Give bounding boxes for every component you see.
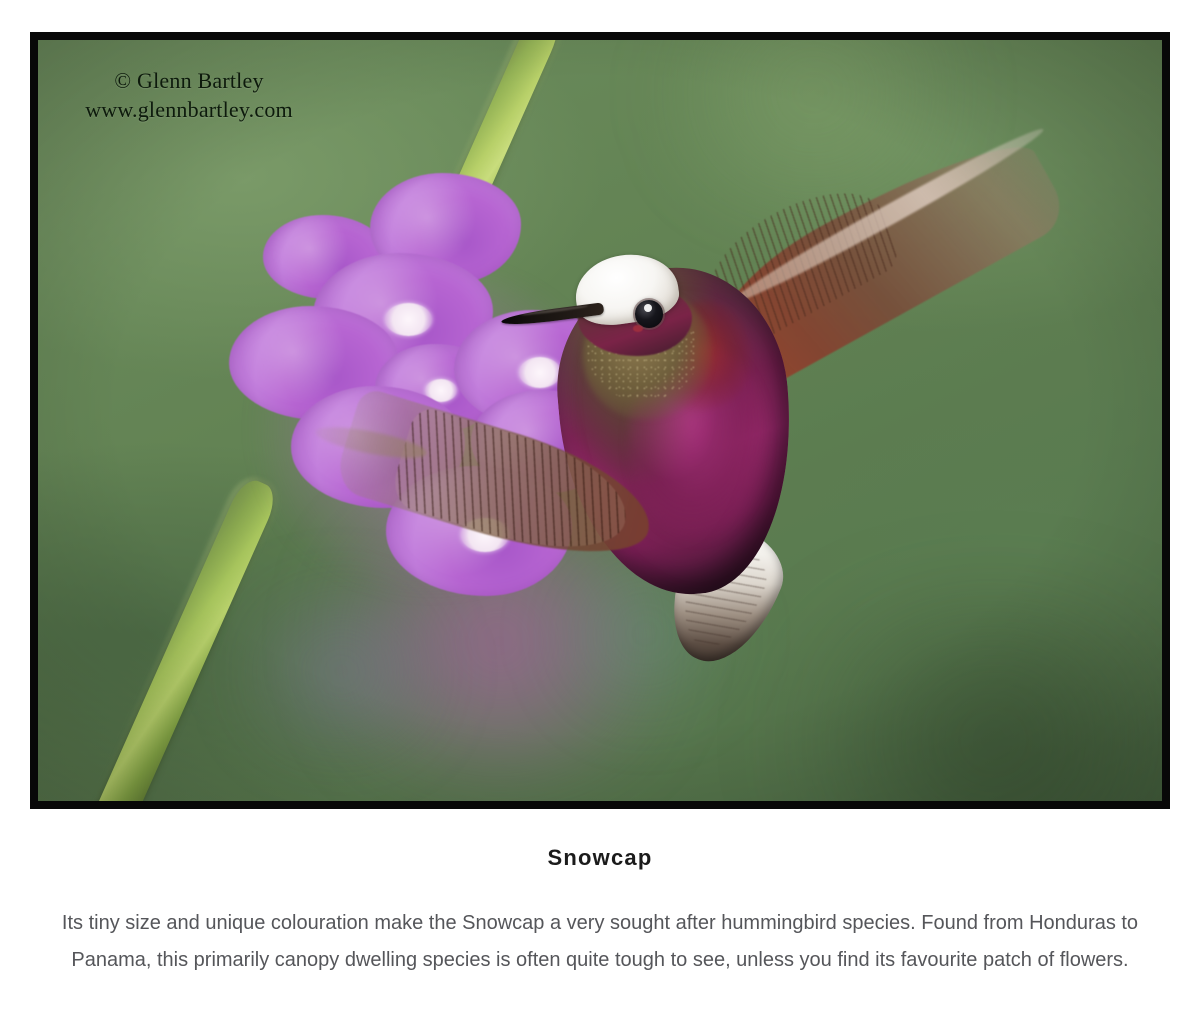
- species-description: Its tiny size and unique colouration mak…: [32, 905, 1168, 979]
- photo-frame: © Glenn Bartley www.glennbartley.com: [30, 32, 1170, 809]
- watermark-website-line: www.glennbartley.com: [85, 96, 293, 124]
- page-root: © Glenn Bartley www.glennbartley.com Sno…: [0, 0, 1200, 1032]
- caption-block: Snowcap Its tiny size and unique coloura…: [0, 845, 1200, 979]
- species-title: Snowcap: [0, 845, 1200, 871]
- hummingbird-photo: © Glenn Bartley www.glennbartley.com: [38, 40, 1162, 801]
- photographer-watermark: © Glenn Bartley www.glennbartley.com: [85, 67, 293, 123]
- watermark-copyright-line: © Glenn Bartley: [85, 67, 293, 95]
- photo-vignette: [38, 40, 1162, 801]
